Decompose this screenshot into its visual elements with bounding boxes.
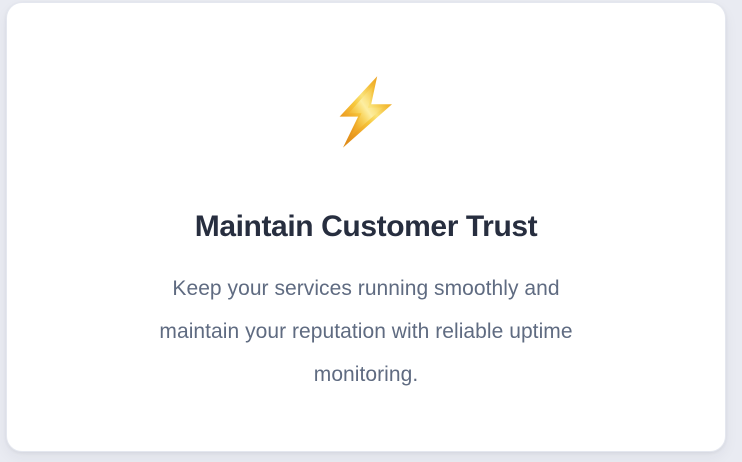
feature-card: Maintain Customer Trust Keep your servic… [6,2,726,452]
feature-description-line-2: maintain your reputation with reliable u… [71,310,661,353]
feature-title: Maintain Customer Trust [195,209,538,245]
feature-description-line-1: Keep your services running smoothly and [71,267,661,310]
feature-card-content: Maintain Customer Trust Keep your servic… [7,3,725,396]
feature-description: Keep your services running smoothly and … [71,267,661,396]
page-root: Maintain Customer Trust Keep your servic… [0,0,742,462]
lightning-bolt-icon [334,75,398,149]
feature-description-line-3: monitoring. [71,353,661,396]
